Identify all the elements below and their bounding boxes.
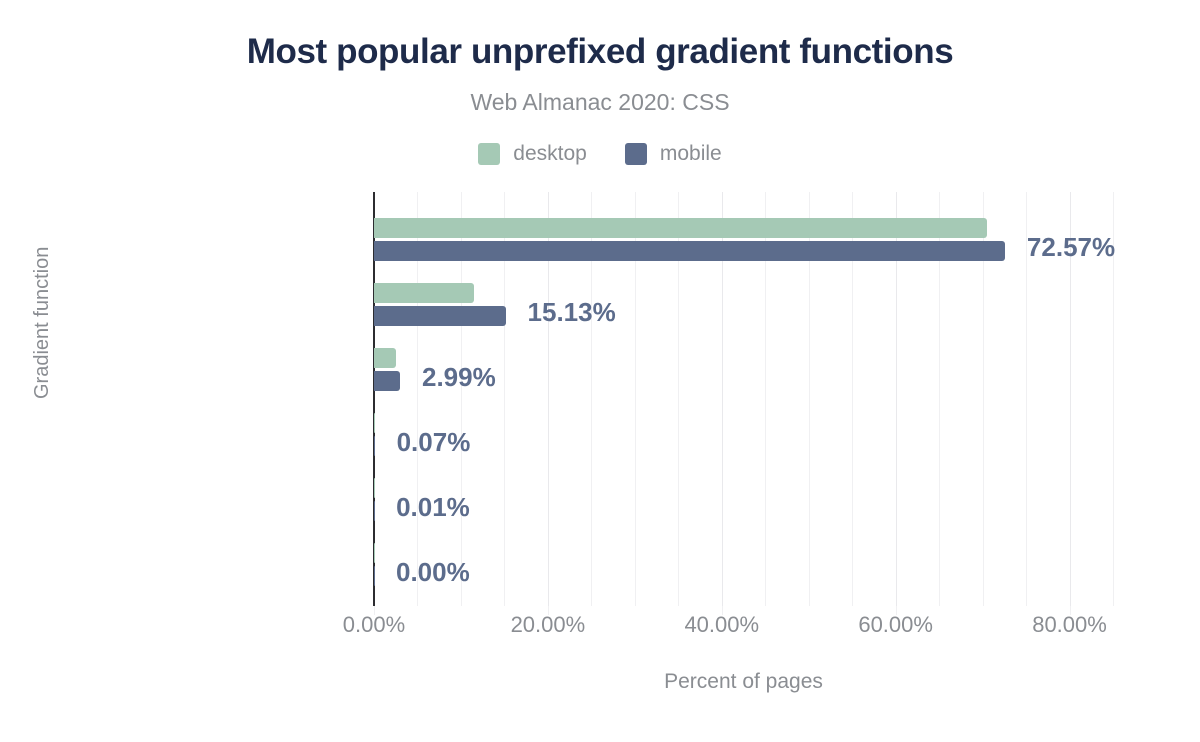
bar-value-label: 15.13% bbox=[528, 299, 616, 325]
bar-desktop-repeating-linear-gradient[interactable] bbox=[374, 348, 396, 368]
bar-desktop-conic-gradient[interactable] bbox=[374, 478, 375, 498]
plot-area: 72.57%15.13%2.99%0.07%0.01%0.00% linear-… bbox=[374, 192, 1113, 606]
legend-label-desktop: desktop bbox=[513, 142, 587, 166]
bar-mobile-repeating-linear-gradient[interactable] bbox=[374, 371, 400, 391]
bar-mobile-conic-gradient[interactable] bbox=[374, 501, 375, 521]
bar-value-label: 72.57% bbox=[1027, 234, 1115, 260]
legend-swatch-mobile bbox=[625, 143, 647, 165]
x-tick-label: 0.00% bbox=[343, 612, 405, 638]
chart-title: Most popular unprefixed gradient functio… bbox=[0, 32, 1200, 72]
bar-mobile-repeating-conic-gradient[interactable] bbox=[374, 566, 375, 586]
bar-desktop-repeating-radial-gradient[interactable] bbox=[374, 413, 375, 433]
bar-row: 2.99% bbox=[374, 334, 1113, 399]
chart-legend: desktop mobile bbox=[0, 142, 1200, 166]
bar-row: 72.57% bbox=[374, 204, 1113, 269]
legend-swatch-desktop bbox=[478, 143, 500, 165]
legend-item-desktop[interactable]: desktop bbox=[478, 142, 587, 166]
bar-mobile-repeating-radial-gradient[interactable] bbox=[374, 436, 375, 456]
bar-row: 0.00% bbox=[374, 529, 1113, 594]
x-tick-label: 20.00% bbox=[511, 612, 586, 638]
bar-row: 0.01% bbox=[374, 464, 1113, 529]
bar-desktop-linear-gradient[interactable] bbox=[374, 218, 987, 238]
bar-desktop-repeating-conic-gradient[interactable] bbox=[374, 543, 375, 563]
bar-mobile-radial-gradient[interactable] bbox=[374, 306, 506, 326]
bar-value-label: 0.07% bbox=[397, 429, 471, 455]
bar-value-label: 0.00% bbox=[396, 559, 470, 585]
bar-rows: 72.57%15.13%2.99%0.07%0.01%0.00% bbox=[374, 192, 1113, 606]
x-tick-label: 60.00% bbox=[858, 612, 933, 638]
legend-item-mobile[interactable]: mobile bbox=[625, 142, 722, 166]
x-tick-label: 40.00% bbox=[684, 612, 759, 638]
bar-value-label: 0.01% bbox=[396, 494, 470, 520]
legend-label-mobile: mobile bbox=[660, 142, 722, 166]
chart-figure: Most popular unprefixed gradient functio… bbox=[0, 0, 1200, 742]
bar-value-label: 2.99% bbox=[422, 364, 496, 390]
bar-desktop-radial-gradient[interactable] bbox=[374, 283, 474, 303]
chart-subtitle: Web Almanac 2020: CSS bbox=[0, 89, 1200, 116]
x-tick-label: 80.00% bbox=[1032, 612, 1107, 638]
x-axis-title: Percent of pages bbox=[374, 670, 1113, 694]
bar-row: 15.13% bbox=[374, 269, 1113, 334]
bar-row: 0.07% bbox=[374, 399, 1113, 464]
bar-mobile-linear-gradient[interactable] bbox=[374, 241, 1005, 261]
y-axis-title: Gradient function bbox=[31, 247, 54, 399]
